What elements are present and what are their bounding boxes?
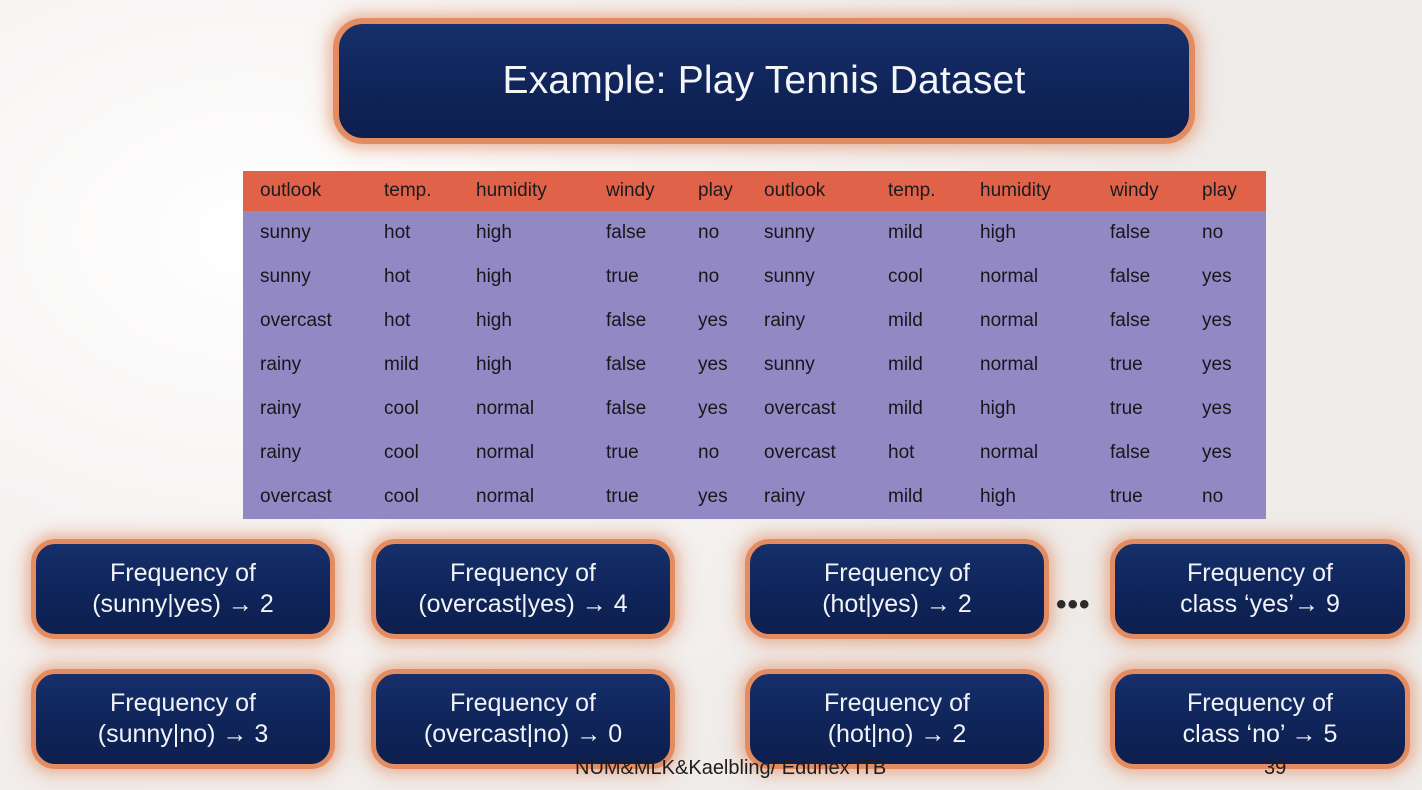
cell-outlook: rainy: [243, 431, 380, 475]
freq-label-line1: Frequency of: [1183, 688, 1338, 720]
freq-overcast-no-box: Frequency of (overcast|no) → 0: [371, 669, 675, 769]
table-body-left: sunny hot high false no sunny hot high t…: [243, 211, 762, 519]
freq-overcast-yes-box: Frequency of (overcast|yes) → 4: [371, 539, 675, 639]
cell-humidity: normal: [472, 475, 602, 519]
cell-humidity: high: [976, 387, 1106, 431]
freq-hot-no-box: Frequency of (hot|no) → 2: [745, 669, 1049, 769]
table-row: sunny mild normal true yes: [747, 343, 1266, 387]
cell-humidity: normal: [976, 431, 1106, 475]
cell-outlook: rainy: [243, 387, 380, 431]
cell-humidity: high: [472, 255, 602, 299]
table-row: overcast mild high true yes: [747, 387, 1266, 431]
cell-temp: mild: [884, 343, 976, 387]
cell-windy: false: [602, 211, 694, 255]
freq-label-line1: Frequency of: [424, 688, 622, 720]
cell-windy: true: [602, 255, 694, 299]
freq-label-line2: (hot|no) → 2: [824, 719, 970, 751]
cell-play: yes: [1198, 255, 1266, 299]
freq-class-no-box: Frequency of class ‘no’ → 5: [1110, 669, 1410, 769]
table-body-right: sunny mild high false no sunny cool norm…: [747, 211, 1266, 519]
cell-play: yes: [1198, 299, 1266, 343]
cell-humidity: high: [472, 343, 602, 387]
cell-temp: cool: [380, 387, 472, 431]
cell-outlook: overcast: [243, 299, 380, 343]
ellipsis-indicator: •••: [1056, 590, 1091, 620]
cell-windy: false: [1106, 211, 1198, 255]
column-header-outlook: outlook: [747, 171, 884, 211]
cell-temp: hot: [380, 211, 472, 255]
table-row: rainy cool normal true no: [243, 431, 762, 475]
freq-class-no-text: Frequency of class ‘no’ → 5: [1177, 688, 1344, 751]
freq-overcast-yes-text: Frequency of (overcast|yes) → 4: [412, 558, 633, 621]
cell-temp: cool: [380, 475, 472, 519]
play-tennis-table-right: outlook temp. humidity windy play sunny …: [747, 171, 1266, 519]
cell-temp: mild: [380, 343, 472, 387]
column-header-windy: windy: [602, 171, 694, 211]
cell-windy: false: [1106, 255, 1198, 299]
cell-temp: hot: [380, 299, 472, 343]
cell-outlook: sunny: [747, 255, 884, 299]
cell-play: yes: [1198, 387, 1266, 431]
table-row: sunny hot high false no: [243, 211, 762, 255]
freq-label-line2: (sunny|yes) → 2: [92, 589, 274, 621]
freq-class-yes-box: Frequency of class ‘yes’→ 9: [1110, 539, 1410, 639]
column-header-outlook: outlook: [243, 171, 380, 211]
freq-label-line2: (hot|yes) → 2: [822, 589, 972, 621]
cell-windy: false: [602, 343, 694, 387]
table-header-right: outlook temp. humidity windy play: [747, 171, 1266, 211]
freq-label-line1: Frequency of: [98, 688, 268, 720]
table-row: sunny hot high true no: [243, 255, 762, 299]
cell-windy: true: [1106, 475, 1198, 519]
freq-label-line2: class ‘no’ → 5: [1183, 719, 1338, 751]
cell-humidity: high: [472, 299, 602, 343]
cell-humidity: high: [976, 475, 1106, 519]
column-header-humidity: humidity: [472, 171, 602, 211]
freq-label-line1: Frequency of: [1180, 558, 1340, 590]
freq-label-line1: Frequency of: [92, 558, 274, 590]
freq-sunny-no-box: Frequency of (sunny|no) → 3: [31, 669, 335, 769]
freq-hot-no-text: Frequency of (hot|no) → 2: [818, 688, 976, 751]
slide-footer: NUM&MLK&Kaelbling/ Edunex ITB: [575, 757, 886, 780]
freq-label-line1: Frequency of: [822, 558, 972, 590]
cell-humidity: normal: [976, 299, 1106, 343]
cell-humidity: high: [976, 211, 1106, 255]
cell-temp: mild: [884, 211, 976, 255]
freq-sunny-yes-text: Frequency of (sunny|yes) → 2: [86, 558, 280, 621]
cell-humidity: high: [472, 211, 602, 255]
cell-temp: mild: [884, 387, 976, 431]
table-header-row: outlook temp. humidity windy play: [747, 171, 1266, 211]
cell-windy: false: [1106, 299, 1198, 343]
cell-windy: true: [1106, 387, 1198, 431]
slide-title-box: Example: Play Tennis Dataset: [333, 18, 1195, 144]
column-header-temp: temp.: [380, 171, 472, 211]
cell-outlook: rainy: [243, 343, 380, 387]
cell-temp: hot: [884, 431, 976, 475]
cell-play: no: [1198, 211, 1266, 255]
freq-sunny-no-text: Frequency of (sunny|no) → 3: [92, 688, 274, 751]
freq-label-line2: class ‘yes’→ 9: [1180, 589, 1340, 621]
table-row: rainy cool normal false yes: [243, 387, 762, 431]
cell-temp: mild: [884, 475, 976, 519]
cell-humidity: normal: [472, 387, 602, 431]
cell-humidity: normal: [976, 343, 1106, 387]
cell-windy: false: [1106, 431, 1198, 475]
freq-label-line1: Frequency of: [418, 558, 627, 590]
freq-hot-yes-text: Frequency of (hot|yes) → 2: [816, 558, 978, 621]
cell-temp: hot: [380, 255, 472, 299]
column-header-play: play: [1198, 171, 1266, 211]
freq-hot-yes-box: Frequency of (hot|yes) → 2: [745, 539, 1049, 639]
cell-outlook: sunny: [243, 255, 380, 299]
cell-outlook: sunny: [243, 211, 380, 255]
freq-label-line2: (overcast|yes) → 4: [418, 589, 627, 621]
cell-temp: cool: [884, 255, 976, 299]
slide-canvas: Example: Play Tennis Dataset outlook tem…: [0, 0, 1422, 790]
play-tennis-table-left: outlook temp. humidity windy play sunny …: [243, 171, 762, 519]
freq-sunny-yes-box: Frequency of (sunny|yes) → 2: [31, 539, 335, 639]
table-row: overcast cool normal true yes: [243, 475, 762, 519]
cell-outlook: overcast: [747, 387, 884, 431]
cell-temp: cool: [380, 431, 472, 475]
page-title: Example: Play Tennis Dataset: [503, 60, 1026, 103]
table-header-row: outlook temp. humidity windy play: [243, 171, 762, 211]
freq-class-yes-text: Frequency of class ‘yes’→ 9: [1174, 558, 1346, 621]
cell-windy: false: [602, 387, 694, 431]
cell-windy: false: [602, 299, 694, 343]
table-header-left: outlook temp. humidity windy play: [243, 171, 762, 211]
freq-label-line2: (sunny|no) → 3: [98, 719, 268, 751]
table-row: rainy mild high true no: [747, 475, 1266, 519]
cell-humidity: normal: [472, 431, 602, 475]
freq-label-line1: Frequency of: [824, 688, 970, 720]
freq-overcast-no-text: Frequency of (overcast|no) → 0: [418, 688, 628, 751]
cell-outlook: overcast: [747, 431, 884, 475]
cell-temp: mild: [884, 299, 976, 343]
page-number: 39: [1264, 757, 1286, 780]
cell-outlook: sunny: [747, 211, 884, 255]
cell-outlook: rainy: [747, 475, 884, 519]
cell-outlook: rainy: [747, 299, 884, 343]
cell-play: yes: [1198, 343, 1266, 387]
cell-windy: true: [602, 475, 694, 519]
table-row: rainy mild normal false yes: [747, 299, 1266, 343]
table-row: overcast hot normal false yes: [747, 431, 1266, 475]
freq-label-line2: (overcast|no) → 0: [424, 719, 622, 751]
cell-outlook: sunny: [747, 343, 884, 387]
table-row: sunny mild high false no: [747, 211, 1266, 255]
table-row: overcast hot high false yes: [243, 299, 762, 343]
cell-outlook: overcast: [243, 475, 380, 519]
cell-windy: true: [602, 431, 694, 475]
table-row: sunny cool normal false yes: [747, 255, 1266, 299]
cell-humidity: normal: [976, 255, 1106, 299]
column-header-temp: temp.: [884, 171, 976, 211]
cell-play: no: [1198, 475, 1266, 519]
cell-windy: true: [1106, 343, 1198, 387]
table-row: rainy mild high false yes: [243, 343, 762, 387]
cell-play: yes: [1198, 431, 1266, 475]
column-header-humidity: humidity: [976, 171, 1106, 211]
column-header-windy: windy: [1106, 171, 1198, 211]
